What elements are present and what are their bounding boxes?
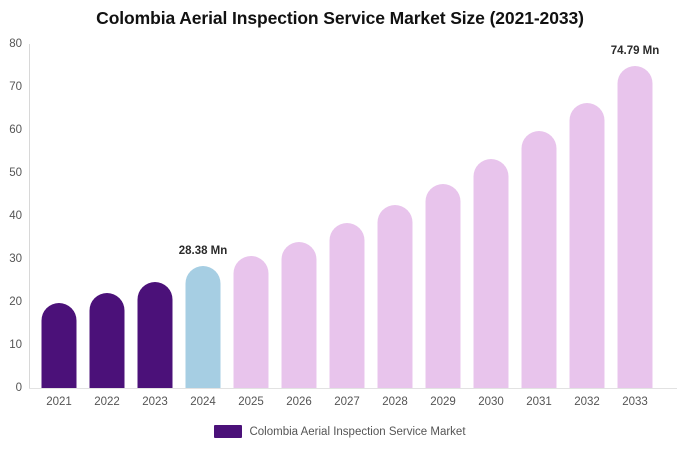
bar-value-label-2024: 28.38 Mn — [179, 245, 228, 257]
bar-chart: Colombia Aerial Inspection Service Marke… — [0, 0, 680, 450]
y-axis-tick-80: 80 — [9, 38, 22, 50]
bar-slot-2026 — [275, 44, 323, 388]
x-axis-label-2032: 2032 — [563, 396, 611, 408]
x-axis-label-2031: 2031 — [515, 396, 563, 408]
bar-slot-2022 — [83, 44, 131, 388]
bar-slot-2028 — [371, 44, 419, 388]
bar-2029[interactable] — [426, 184, 461, 388]
bar-slot-2027 — [323, 44, 371, 388]
bar-slot-2021 — [35, 44, 83, 388]
bar-2033[interactable] — [618, 66, 653, 388]
bar-2025[interactable] — [234, 256, 269, 388]
x-axis-label-2025: 2025 — [227, 396, 275, 408]
bar-2028[interactable] — [378, 205, 413, 388]
y-axis-tick-70: 70 — [9, 81, 22, 93]
x-axis-label-2023: 2023 — [131, 396, 179, 408]
x-axis-label-2022: 2022 — [83, 396, 131, 408]
x-axis-label-2028: 2028 — [371, 396, 419, 408]
y-axis-tick-20: 20 — [9, 296, 22, 308]
bar-2031[interactable] — [522, 131, 557, 388]
y-axis-tick-60: 60 — [9, 124, 22, 136]
plot-area: 0102030405060708028.38 Mn74.79 Mn — [29, 44, 677, 388]
chart-title: Colombia Aerial Inspection Service Marke… — [0, 8, 680, 29]
y-axis-tick-30: 30 — [9, 253, 22, 265]
legend-label-market: Colombia Aerial Inspection Service Marke… — [249, 426, 465, 438]
x-axis-label-2027: 2027 — [323, 396, 371, 408]
bar-2021[interactable] — [42, 303, 77, 388]
bar-slot-2033: 74.79 Mn — [611, 44, 659, 388]
bar-slot-2025 — [227, 44, 275, 388]
bar-slot-2029 — [419, 44, 467, 388]
chart-legend: Colombia Aerial Inspection Service Marke… — [0, 425, 680, 438]
bar-value-label-2033: 74.79 Mn — [611, 45, 660, 57]
bar-slot-2030 — [467, 44, 515, 388]
bar-slot-2023 — [131, 44, 179, 388]
x-axis-baseline — [29, 388, 677, 389]
x-axis-label-2026: 2026 — [275, 396, 323, 408]
y-axis-tick-10: 10 — [9, 339, 22, 351]
x-axis-label-2030: 2030 — [467, 396, 515, 408]
bar-2024[interactable] — [186, 266, 221, 388]
x-axis-label-2029: 2029 — [419, 396, 467, 408]
bar-slot-2024: 28.38 Mn — [179, 44, 227, 388]
x-axis-label-2021: 2021 — [35, 396, 83, 408]
x-axis-label-2033: 2033 — [611, 396, 659, 408]
x-axis-label-2024: 2024 — [179, 396, 227, 408]
legend-swatch-market — [214, 425, 242, 438]
y-axis-tick-50: 50 — [9, 167, 22, 179]
bar-2030[interactable] — [474, 159, 509, 388]
bar-2026[interactable] — [282, 242, 317, 388]
bar-2022[interactable] — [90, 293, 125, 388]
bar-slot-2032 — [563, 44, 611, 388]
y-axis-tick-40: 40 — [9, 210, 22, 222]
bar-2023[interactable] — [138, 282, 173, 388]
bar-slot-2031 — [515, 44, 563, 388]
y-axis-tick-0: 0 — [16, 382, 22, 394]
bar-2032[interactable] — [570, 103, 605, 388]
bar-2027[interactable] — [330, 223, 365, 388]
